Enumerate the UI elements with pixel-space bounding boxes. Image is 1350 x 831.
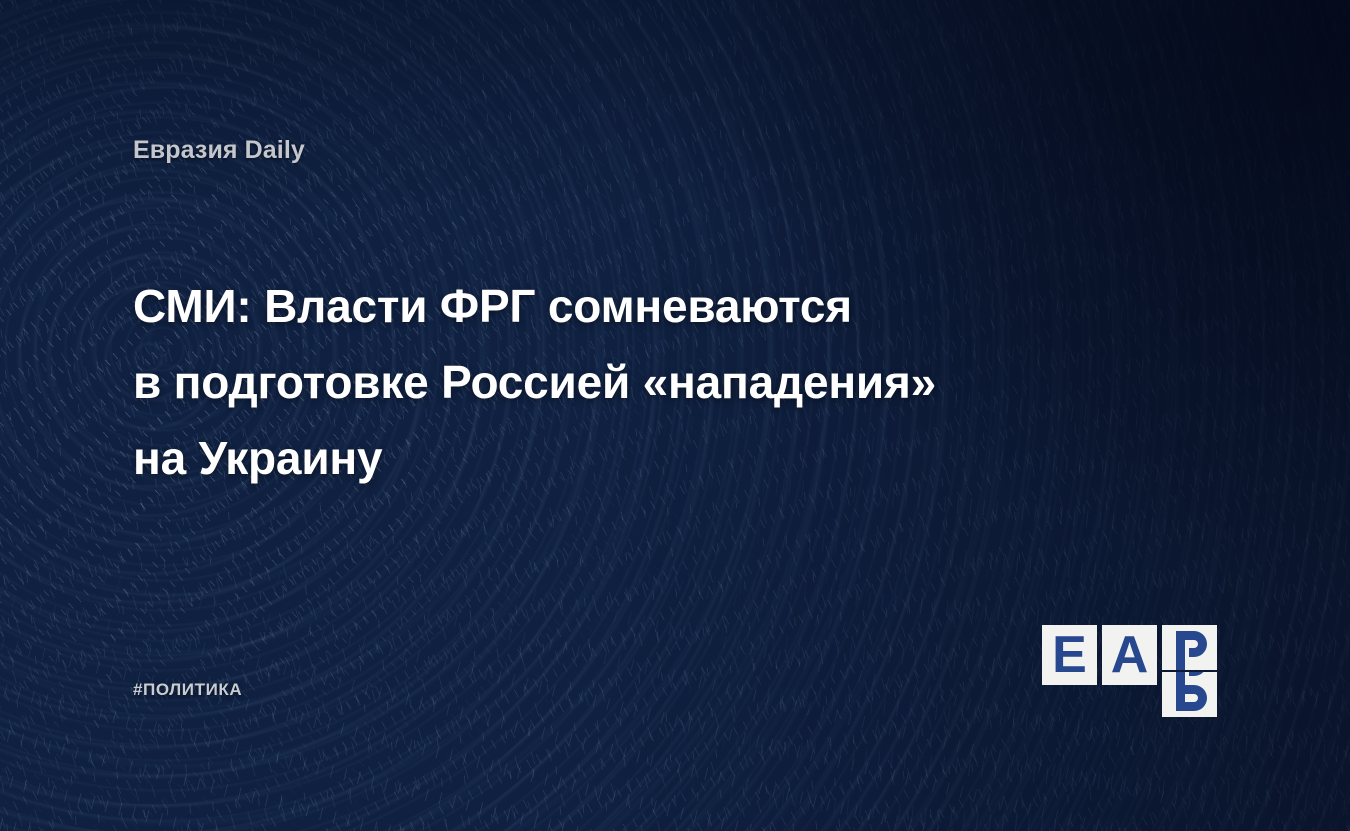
headline-line-3: на Украину bbox=[133, 420, 1133, 496]
logo-letter-a: A bbox=[1102, 625, 1157, 685]
site-logo-text: Евразия Daily bbox=[133, 136, 305, 165]
logo-letter-e: E bbox=[1042, 625, 1097, 685]
logo-tile-e: E bbox=[1042, 625, 1097, 685]
news-share-card: Евразия Daily СМИ: Власти ФРГ сомневаютс… bbox=[0, 0, 1350, 831]
headline: СМИ: Власти ФРГ сомневаются в подготовке… bbox=[133, 268, 1133, 496]
eadaily-logo[interactable]: E A bbox=[1042, 625, 1222, 717]
logo-tile-a: A bbox=[1102, 625, 1157, 685]
category-tag[interactable]: #ПОЛИТИКА bbox=[133, 680, 242, 700]
logo-tile-d-upper bbox=[1162, 625, 1217, 670]
logo-tile-d-lower bbox=[1162, 672, 1217, 717]
logo-letter-d-upper-icon bbox=[1162, 625, 1217, 670]
logo-letter-d-lower-icon bbox=[1162, 672, 1217, 717]
card-content: Евразия Daily СМИ: Власти ФРГ сомневаютс… bbox=[0, 0, 1350, 831]
logo-tile-column-d bbox=[1162, 625, 1217, 717]
headline-line-1: СМИ: Власти ФРГ сомневаются bbox=[133, 268, 1133, 344]
headline-line-2: в подготовке Россией «нападения» bbox=[133, 344, 1133, 420]
